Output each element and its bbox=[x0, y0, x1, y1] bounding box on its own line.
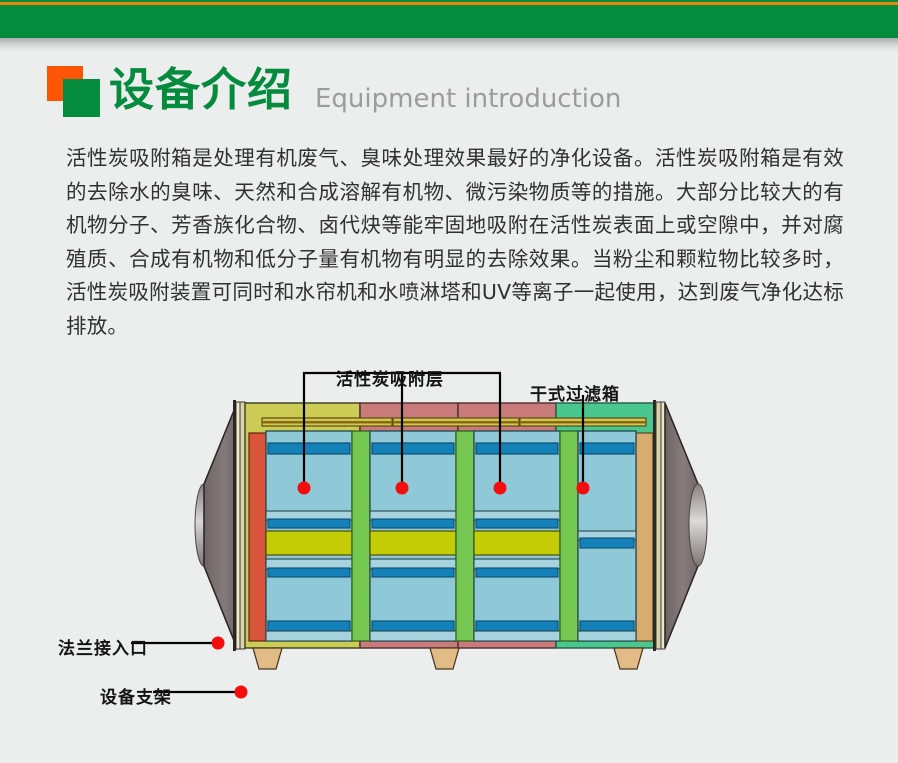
foot-left bbox=[253, 648, 282, 669]
right-flange-assembly bbox=[653, 400, 707, 651]
page-title: 设备介绍 bbox=[109, 62, 293, 118]
carbon-cell-column-1 bbox=[266, 431, 352, 641]
top-rail bbox=[262, 418, 646, 426]
banner-drop-shadow bbox=[0, 38, 898, 52]
top-banner bbox=[0, 0, 898, 38]
callout-dot-carbon-3 bbox=[494, 482, 507, 495]
dry-filter-cell-column bbox=[578, 431, 636, 641]
label-equipment-bracket: 设备支架 bbox=[100, 683, 172, 708]
label-dry-filter-box: 干式过滤箱 bbox=[530, 380, 620, 405]
left-flange-assembly bbox=[195, 400, 245, 651]
equipment-diagram-svg bbox=[0, 355, 898, 725]
label-flange-inlet: 法兰接入口 bbox=[58, 634, 148, 659]
cell-divider-2 bbox=[456, 431, 474, 641]
callout-dot-carbon-1 bbox=[298, 482, 311, 495]
callout-dot-flange bbox=[212, 637, 225, 650]
foot-right bbox=[614, 648, 643, 669]
logo-green-square-icon bbox=[63, 79, 100, 117]
callout-dot-bracket bbox=[235, 686, 248, 699]
equipment-feet bbox=[253, 648, 643, 669]
banner-green-bar bbox=[0, 5, 898, 38]
callout-dot-dry-filter bbox=[577, 482, 590, 495]
equipment-diagram: 活性炭吸附层 干式过滤箱 法兰接入口 设备支架 bbox=[0, 355, 898, 725]
carbon-cell-column-2 bbox=[370, 431, 456, 641]
callout-dot-carbon-2 bbox=[396, 482, 409, 495]
cell-divider-3 bbox=[560, 431, 578, 641]
intro-paragraph: 活性炭吸附箱是处理有机废气、臭味处理效果最好的净化设备。活性炭吸附箱是有效的去除… bbox=[66, 142, 844, 343]
label-carbon-adsorption-layer: 活性炭吸附层 bbox=[336, 365, 444, 390]
logo-squares-icon bbox=[47, 66, 109, 118]
page-title-row: 设备介绍 Equipment introduction bbox=[47, 66, 109, 120]
carbon-cell-column-3 bbox=[474, 431, 560, 641]
cell-divider-1 bbox=[352, 431, 370, 641]
page-subtitle: Equipment introduction bbox=[315, 82, 621, 116]
foot-center bbox=[430, 648, 459, 669]
